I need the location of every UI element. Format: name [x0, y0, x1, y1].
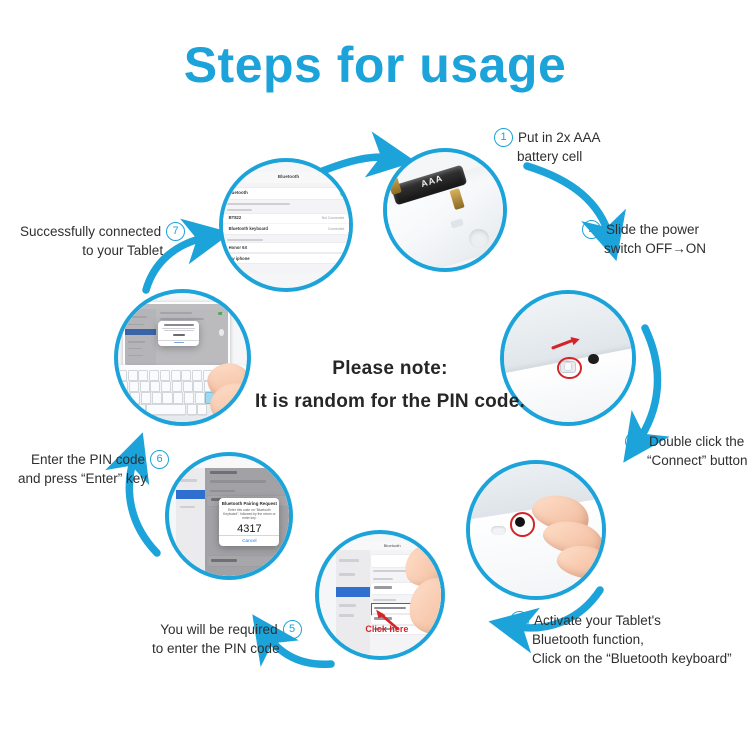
indicator-dot: [588, 354, 598, 364]
step-5-line-1: You will be required: [160, 620, 277, 639]
tablet-screen: Bluetooth Bluetooth BT822 Not Connected …: [223, 172, 349, 273]
other-device-1: Honor 6X: [229, 245, 248, 250]
step-2-caption: 2 Slide the power switch OFF→ON: [582, 220, 706, 258]
sidebar-selected-row: [336, 587, 370, 596]
step-4-caption: 4 Activate your Tablet's Bluetooth funct…: [510, 611, 732, 668]
tablet-home-button: [219, 329, 224, 335]
device-status-1: Not Connected: [322, 216, 345, 220]
step-1-caption: 1 Put in 2x AAA battery cell: [494, 128, 601, 166]
tablet-screen: Bluetooth Pairing Request Enter this cod…: [176, 458, 289, 576]
step-3-line-2: “Connect” button: [647, 451, 748, 470]
red-highlight-ring: [510, 512, 535, 536]
dialog-body: Enter this code on “Bluetooth Keyboard”,…: [223, 508, 276, 520]
bluetooth-toggle-label: Bluetooth: [227, 190, 248, 195]
step-3-line-1: Double click the: [649, 432, 744, 451]
step-4-line-3: Click on the “Bluetooth keyboard”: [532, 649, 732, 668]
battery-label: AAA: [419, 173, 443, 189]
click-here-callout: Click here: [365, 624, 408, 634]
bluetooth-toggle[interactable]: [340, 189, 349, 196]
step-7-line-1: Successfully connected: [20, 222, 161, 241]
step-number-5: 5: [283, 620, 302, 639]
center-note: Please note: It is random for the PIN co…: [230, 358, 550, 413]
step-7-line-2: to your Tablet: [82, 241, 163, 260]
step-6-line-2: and press “Enter” key: [18, 469, 147, 488]
red-highlight-ring: [557, 357, 581, 380]
arrow-2-to-3: [637, 328, 657, 443]
note-line-1: Please note:: [230, 358, 550, 380]
tablet-device: [123, 302, 230, 368]
step-4-line-2: Bluetooth function,: [532, 630, 644, 649]
step-number-4: 4: [510, 611, 529, 630]
step-5-photo: Bluetooth Pairing Request Enter this cod…: [165, 452, 293, 580]
step-number-2: 2: [582, 220, 601, 239]
dialog-title: Bluetooth Pairing Request: [219, 501, 279, 506]
step-7-photo: Bluetooth Bluetooth BT822 Not Connected …: [219, 158, 353, 292]
step-number-7: 7: [166, 222, 185, 241]
bluetooth-pairing-dialog: Bluetooth Pairing Request Enter this cod…: [219, 498, 279, 546]
step-6-caption: Enter the PIN code 6 and press “Enter” k…: [18, 450, 169, 488]
step-3-photo: [466, 460, 606, 600]
step-5-caption: You will be required 5 to enter the PIN …: [152, 620, 302, 658]
step-number-1: 1: [494, 128, 513, 147]
screen-header: Bluetooth: [223, 174, 349, 179]
step-6-line-1: Enter the PIN code: [31, 450, 145, 469]
other-device-2: my iphone: [229, 256, 250, 261]
step-3-caption: 3 Double click the “Connect” button: [625, 432, 748, 470]
red-arrow-icon: [551, 336, 582, 351]
infographic-canvas: Steps for usage: [0, 0, 750, 750]
device-name-1: BT822: [229, 215, 242, 220]
step-4-photo: Bluetooth: [315, 530, 445, 660]
step-5-line-2: to enter the PIN code: [152, 639, 280, 658]
settings-sidebar: [176, 468, 206, 576]
step-number-6: 6: [150, 450, 169, 469]
device-status-2: Connected: [328, 227, 344, 231]
cancel-button[interactable]: Cancel: [219, 538, 279, 543]
step-7-caption: Successfully connected 7 to your Tablet: [20, 222, 185, 260]
step-2-line-1: Slide the power: [606, 220, 699, 239]
step-number-3: 3: [625, 432, 644, 451]
step-1-line-1: Put in 2x AAA: [518, 128, 601, 147]
step-1-line-2: battery cell: [517, 147, 582, 166]
status-led: [491, 526, 506, 535]
bluetooth-pairing-dialog: [158, 321, 199, 346]
bluetooth-panel: Bluetooth BT822 Not Connected Bluetooth …: [223, 183, 349, 273]
step-2-line-2: switch OFF→ON: [604, 239, 706, 258]
step-1-photo: AAA: [383, 148, 507, 272]
step-4-line-1: Activate your Tablet's: [534, 611, 661, 630]
note-line-2: It is random for the PIN code.: [230, 391, 550, 413]
page-title: Steps for usage: [0, 36, 750, 94]
sidebar-selected-row: [176, 490, 205, 499]
settings-sidebar: [336, 550, 371, 653]
pin-code: 4317: [219, 523, 279, 535]
device-name-2: Bluetooth keyboard: [229, 226, 268, 231]
